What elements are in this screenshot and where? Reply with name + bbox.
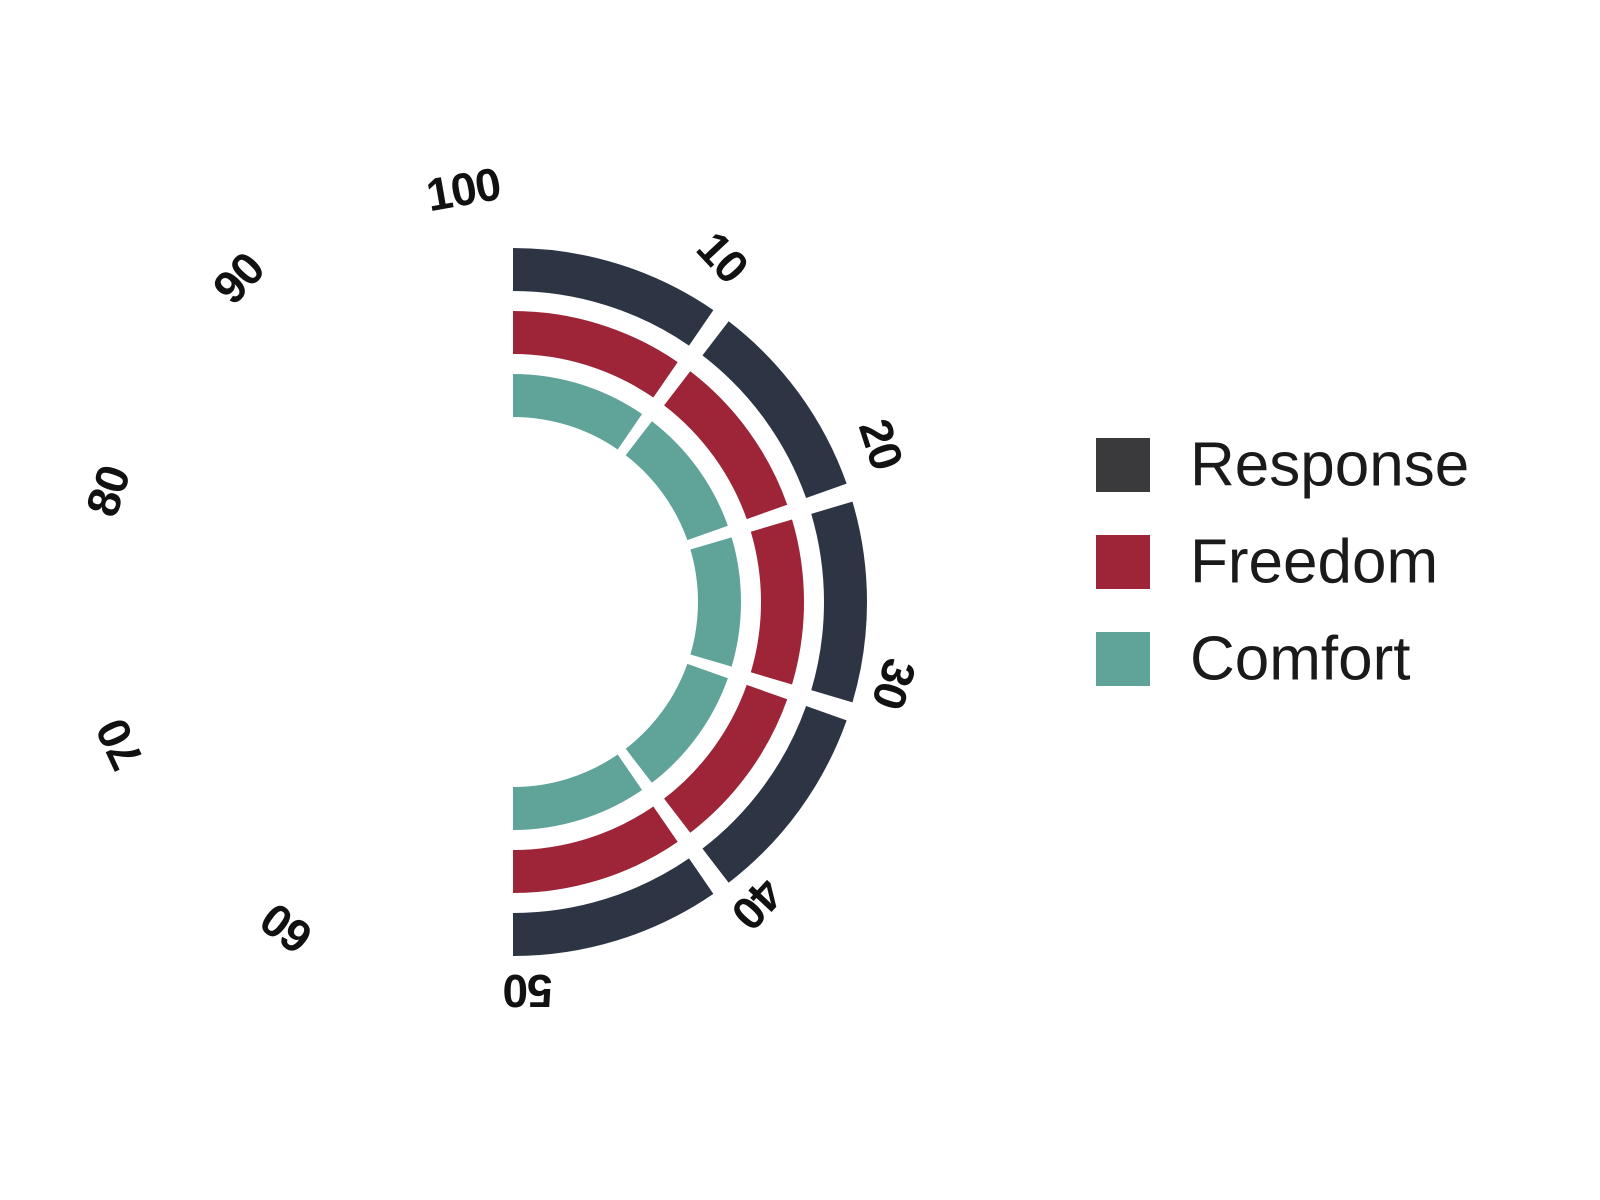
legend-item-freedom[interactable]: Freedom bbox=[1096, 527, 1438, 596]
legend-label: Response bbox=[1190, 430, 1469, 499]
axis-tick-label-50: 50 bbox=[503, 965, 552, 1017]
chart-canvas: 100102030405060708090 ResponseFreedomCom… bbox=[0, 0, 1600, 1200]
legend-label: Freedom bbox=[1190, 527, 1438, 596]
legend-swatch-icon bbox=[1096, 438, 1150, 492]
legend-item-comfort[interactable]: Comfort bbox=[1096, 624, 1410, 693]
legend-label: Comfort bbox=[1190, 624, 1410, 693]
legend-swatch-icon bbox=[1096, 632, 1150, 686]
radial-chart-figure: 100102030405060708090 ResponseFreedomCom… bbox=[0, 0, 1600, 1200]
legend-swatch-icon bbox=[1096, 535, 1150, 589]
